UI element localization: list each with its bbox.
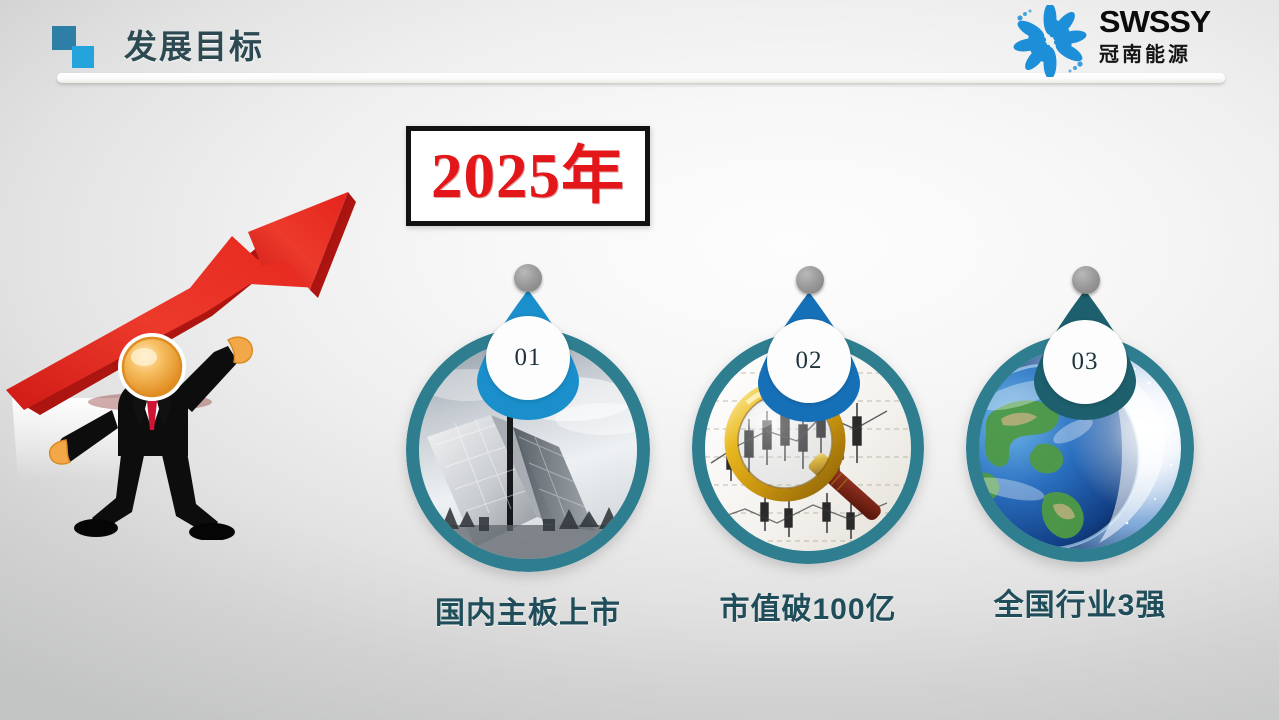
logo-text-block: SWSSY 冠南能源 <box>1099 4 1261 68</box>
logo-company-name-cn: 冠南能源 <box>1099 42 1261 68</box>
businessman-on-rising-arrow-illustration <box>0 140 420 540</box>
goal-01-pin-icon <box>514 264 542 292</box>
goal-03-number-badge: 03 <box>1043 320 1127 404</box>
goal-01-number: 01 <box>515 344 542 372</box>
year-badge: 2025年 <box>406 126 650 226</box>
company-logo: SWSSY 冠南能源 <box>1011 4 1261 78</box>
water-droplet-flower-icon <box>1011 5 1089 77</box>
year-badge-label: 2025年 <box>431 145 625 208</box>
goal-02-caption: 市值破100亿 <box>692 584 924 628</box>
header-decoration-squares <box>52 26 108 70</box>
goal-01-caption: 国内主板上市 <box>406 588 650 632</box>
square-lower-icon <box>72 46 94 68</box>
goal-03-number: 03 <box>1072 348 1099 376</box>
slide-root: 发展目标 <box>0 0 1279 720</box>
goal-02-pin-icon <box>796 266 824 294</box>
logo-wordmark: SWSSY <box>1099 4 1267 40</box>
goal-01-number-badge: 01 <box>486 316 570 400</box>
goal-03-caption: 全国行业3强 <box>966 580 1194 624</box>
goal-02-number: 02 <box>796 347 823 375</box>
goal-02-number-badge: 02 <box>767 319 851 403</box>
goal-03-pin-icon <box>1072 266 1100 294</box>
page-title: 发展目标 <box>124 20 264 68</box>
